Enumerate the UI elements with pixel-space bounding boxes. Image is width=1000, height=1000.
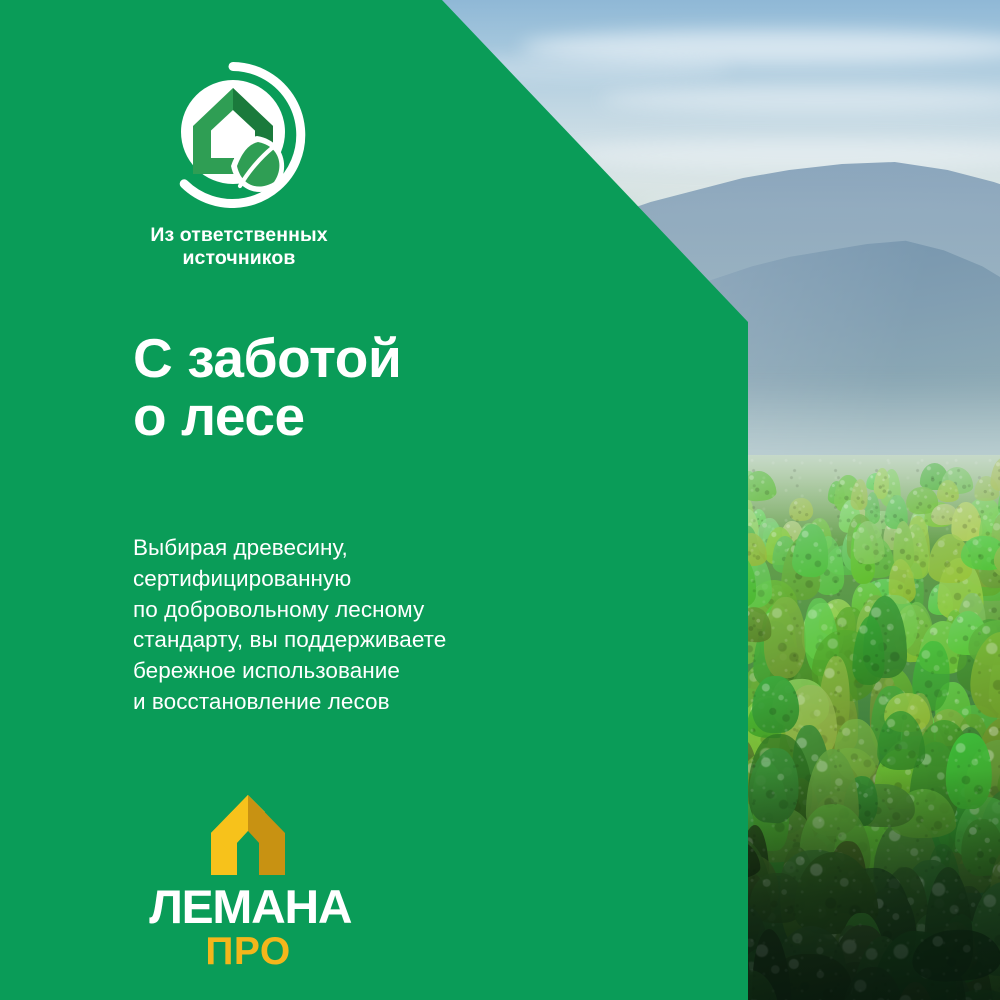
brand-sub-name: ПРО [133, 932, 363, 971]
certification-badge-caption: Из ответственных источников [133, 224, 345, 270]
poster-content: Из ответственных источников С заботой о … [0, 0, 1000, 1000]
brand-logo: ЛЕМАНА ПРО [133, 793, 363, 971]
page-headline: С заботой о лесе [133, 329, 401, 446]
lemana-pro-house-icon [133, 793, 363, 877]
brand-name: ЛЕМАНА [133, 883, 368, 930]
poster: Из ответственных источников С заботой о … [0, 0, 1000, 1000]
certification-badge: Из ответственных источников [133, 62, 345, 270]
responsible-sources-house-leaf-icon [160, 62, 306, 208]
body-copy: Выбирая древесину, сертифицированную по … [133, 533, 446, 718]
